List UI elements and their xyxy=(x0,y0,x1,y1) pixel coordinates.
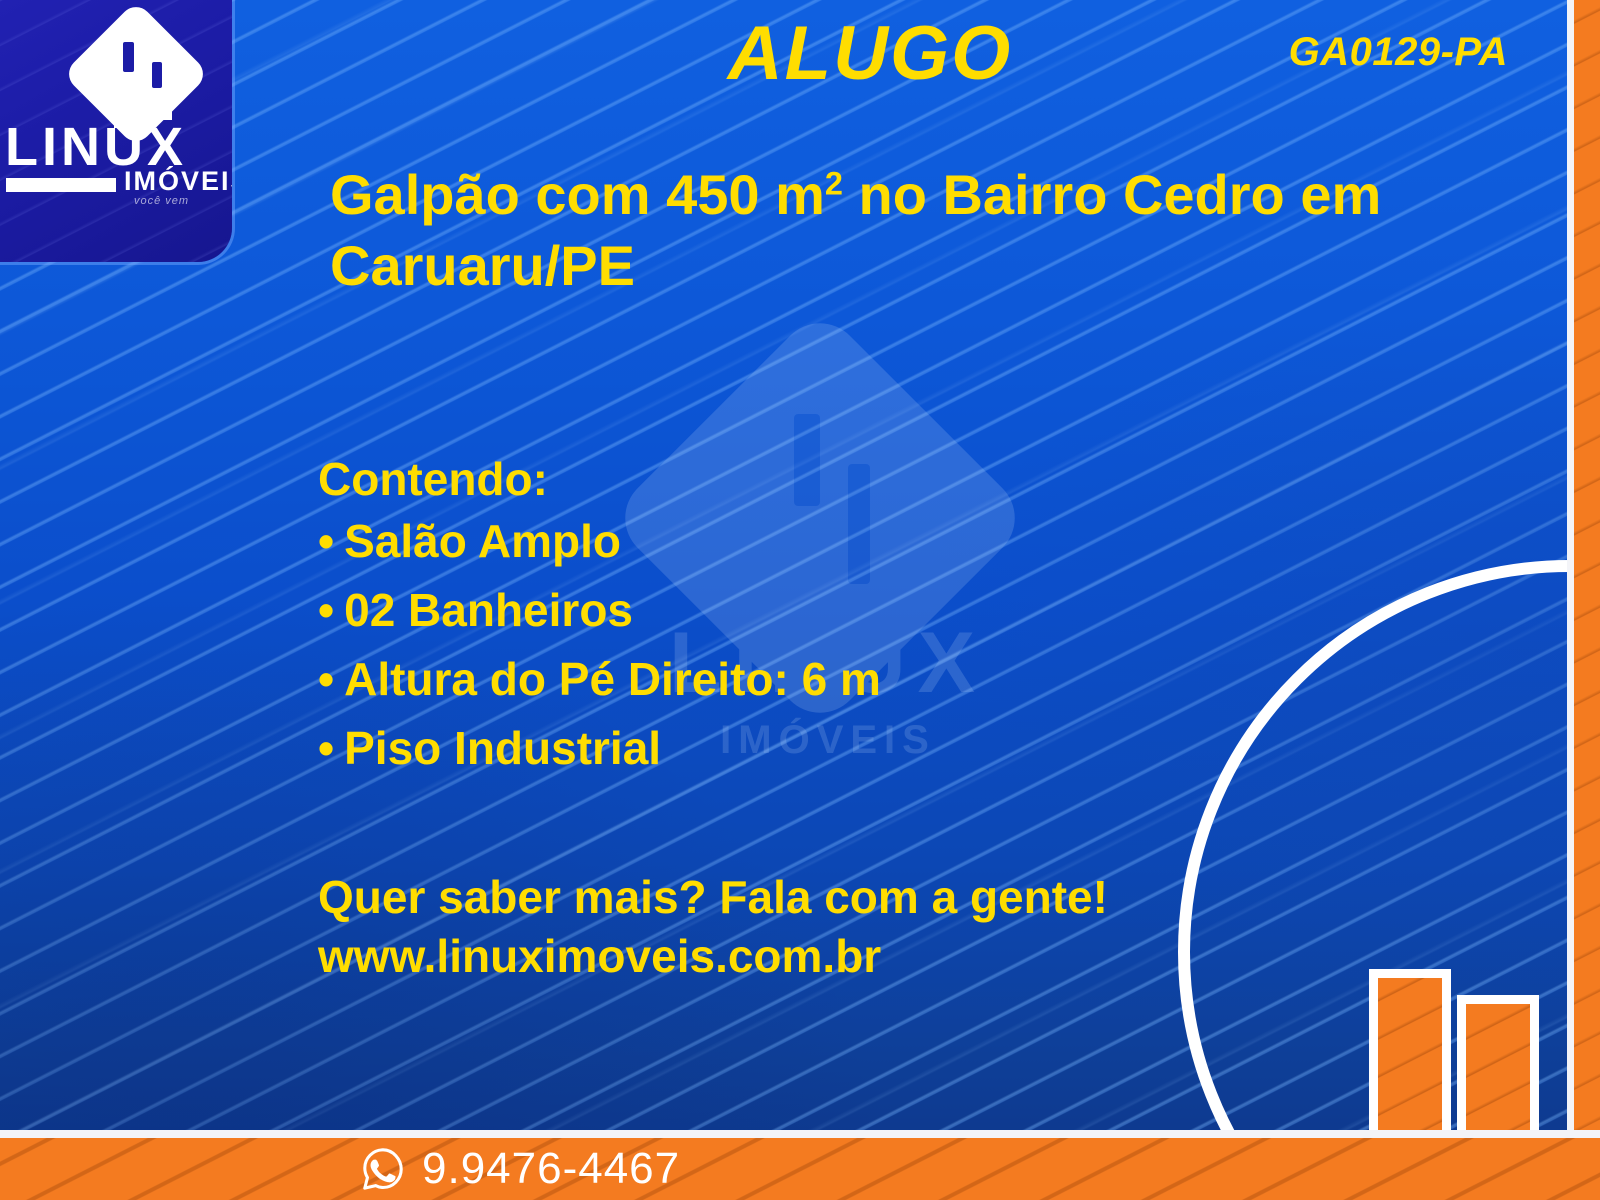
feature-text: Piso Industrial xyxy=(344,722,661,774)
call-to-action: Quer saber mais? Fala com a gente! www.l… xyxy=(318,868,1108,986)
feature-text: 02 Banheiros xyxy=(344,584,633,636)
bullet-icon: • xyxy=(318,587,334,633)
building-stripe-pattern xyxy=(1378,978,1442,1138)
right-strip-pattern xyxy=(1574,0,1600,1138)
phone-number[interactable]: 9.9476-4467 xyxy=(422,1147,680,1191)
logo-underline-bar xyxy=(6,178,116,192)
list-item: •Salão Amplo xyxy=(318,518,1368,564)
title-part-a: Galpão com 450 m xyxy=(330,163,825,226)
footer-separator xyxy=(0,1130,1600,1138)
cta-question: Quer saber mais? Fala com a gente! xyxy=(318,871,1108,923)
contact-phone-group[interactable]: 9.9476-4467 xyxy=(360,1146,680,1192)
building-stripe-pattern xyxy=(1466,1004,1530,1138)
website-link[interactable]: www.linuximoveis.com.br xyxy=(318,927,1108,986)
reference-code: GA0129-PA xyxy=(1289,32,1508,72)
logo-subtitle: IMÓVEIS xyxy=(124,168,232,195)
feature-text: Altura do Pé Direito: 6 m xyxy=(344,653,881,705)
title-superscript: 2 xyxy=(825,165,843,201)
features-heading: Contendo: xyxy=(318,456,548,502)
title-line-2: Caruaru/PE xyxy=(330,234,635,297)
right-orange-strip xyxy=(1574,0,1600,1138)
footer-bar: 9.9476-4467 xyxy=(0,1138,1600,1200)
right-strip-separator xyxy=(1567,0,1574,1138)
list-item: •02 Banheiros xyxy=(318,587,1368,633)
whatsapp-icon[interactable] xyxy=(360,1146,406,1192)
logo-tagline: você vem xyxy=(134,196,189,207)
advertisement-poster: LINUX IMÓVEIS LINUX IMÓVEIS você vem ALU… xyxy=(0,0,1600,1200)
decorative-building-short xyxy=(1466,1004,1530,1138)
features-list: •Salão Amplo •02 Banheiros •Altura do Pé… xyxy=(318,518,1368,794)
footer-stripe-pattern xyxy=(0,1138,1600,1200)
feature-text: Salão Amplo xyxy=(344,515,621,567)
decorative-building-tall xyxy=(1378,978,1442,1138)
list-item: •Altura do Pé Direito: 6 m xyxy=(318,656,1368,702)
decorative-buildings xyxy=(1356,948,1566,1138)
action-label: ALUGO xyxy=(640,16,1100,92)
listing-title: Galpão com 450 m2 no Bairro Cedro em Car… xyxy=(330,160,1470,301)
list-item: •Piso Industrial xyxy=(318,725,1368,771)
bullet-icon: • xyxy=(318,656,334,702)
bullet-icon: • xyxy=(318,725,334,771)
brand-logo-badge[interactable]: LINUX IMÓVEIS você vem xyxy=(0,0,232,262)
bullet-icon: • xyxy=(318,518,334,564)
title-part-b: no Bairro Cedro em xyxy=(843,163,1381,226)
